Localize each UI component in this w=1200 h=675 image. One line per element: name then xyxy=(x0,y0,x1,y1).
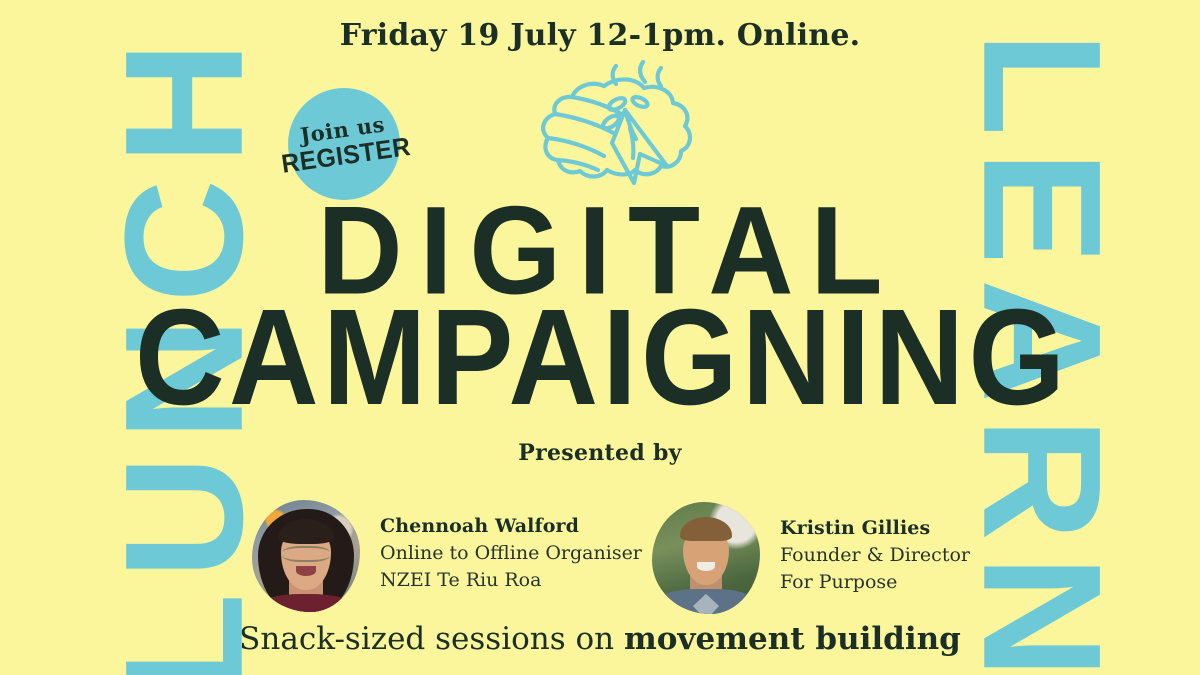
presenter-card: Chennoah Walford Online to Offline Organ… xyxy=(252,500,642,612)
presenter-role: Founder & Director xyxy=(780,542,970,570)
presenter-organisation: For Purpose xyxy=(780,569,970,597)
presenter-name: Kristin Gillies xyxy=(780,516,970,542)
avatar xyxy=(652,502,760,614)
presenter-list: Chennoah Walford Online to Offline Organ… xyxy=(0,496,1200,621)
presenter-card: Kristin Gillies Founder & Director For P… xyxy=(652,502,970,614)
event-date-line: Friday 19 July 12-1pm. Online. xyxy=(0,18,1200,53)
event-poster: LUNCH LEARN Friday 19 July 12-1pm. Onlin… xyxy=(0,0,1200,675)
register-badge-inner: Join us REGISTER xyxy=(273,110,416,179)
presented-by-label: Presented by xyxy=(0,440,1200,466)
tagline: Snack-sized sessions on movement buildin… xyxy=(0,621,1200,657)
presenter-name: Chennoah Walford xyxy=(380,514,642,540)
title-line-campaigning: CAMPAIGNING xyxy=(0,289,1200,426)
tagline-bold-part: movement building xyxy=(624,621,961,657)
presenter-organisation: NZEI Te Riu Roa xyxy=(380,567,642,595)
tagline-regular-part: Snack-sized sessions on xyxy=(239,621,624,657)
presenter-details: Kristin Gillies Founder & Director For P… xyxy=(780,502,970,597)
presenter-role: Online to Offline Organiser xyxy=(380,540,642,568)
avatar xyxy=(252,500,360,612)
presenter-details: Chennoah Walford Online to Offline Organ… xyxy=(380,500,642,595)
pie-slice-doodle xyxy=(512,58,712,198)
